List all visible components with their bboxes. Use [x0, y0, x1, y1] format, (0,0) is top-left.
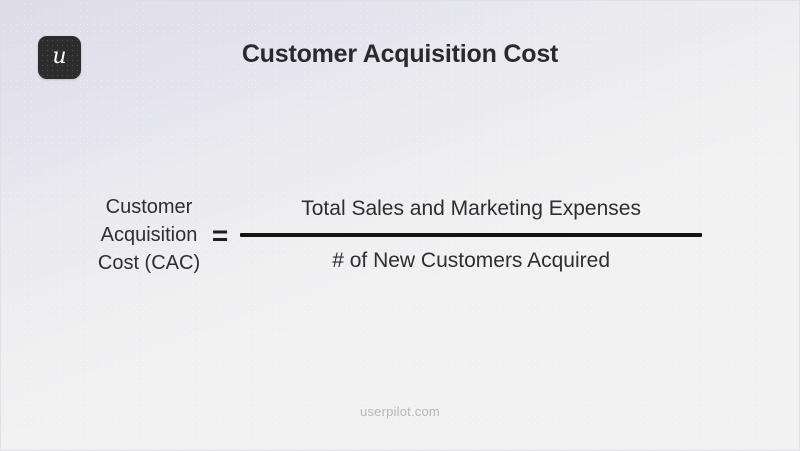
logo-letter-u: u: [52, 46, 66, 68]
userpilot-logo: u: [38, 36, 81, 79]
formula-left-label-line-1: Customer: [98, 193, 200, 221]
fraction-denominator: # of New Customers Acquired: [332, 247, 610, 275]
formula-left-label: Customer Acquisition Cost (CAC): [98, 193, 200, 277]
formula-fraction: Total Sales and Marketing Expenses # of …: [240, 195, 702, 275]
equals-sign: =: [200, 222, 240, 250]
cac-formula: Customer Acquisition Cost (CAC) = Total …: [0, 193, 800, 277]
slide-canvas: u Customer Acquisition Cost Customer Acq…: [0, 0, 800, 451]
formula-left-label-line-2: Acquisition: [98, 221, 200, 249]
footer-watermark: userpilot.com: [0, 404, 800, 419]
formula-left-label-line-3: Cost (CAC): [98, 249, 200, 277]
fraction-bar: [240, 233, 702, 237]
page-title: Customer Acquisition Cost: [0, 40, 800, 69]
fraction-numerator: Total Sales and Marketing Expenses: [301, 195, 641, 223]
